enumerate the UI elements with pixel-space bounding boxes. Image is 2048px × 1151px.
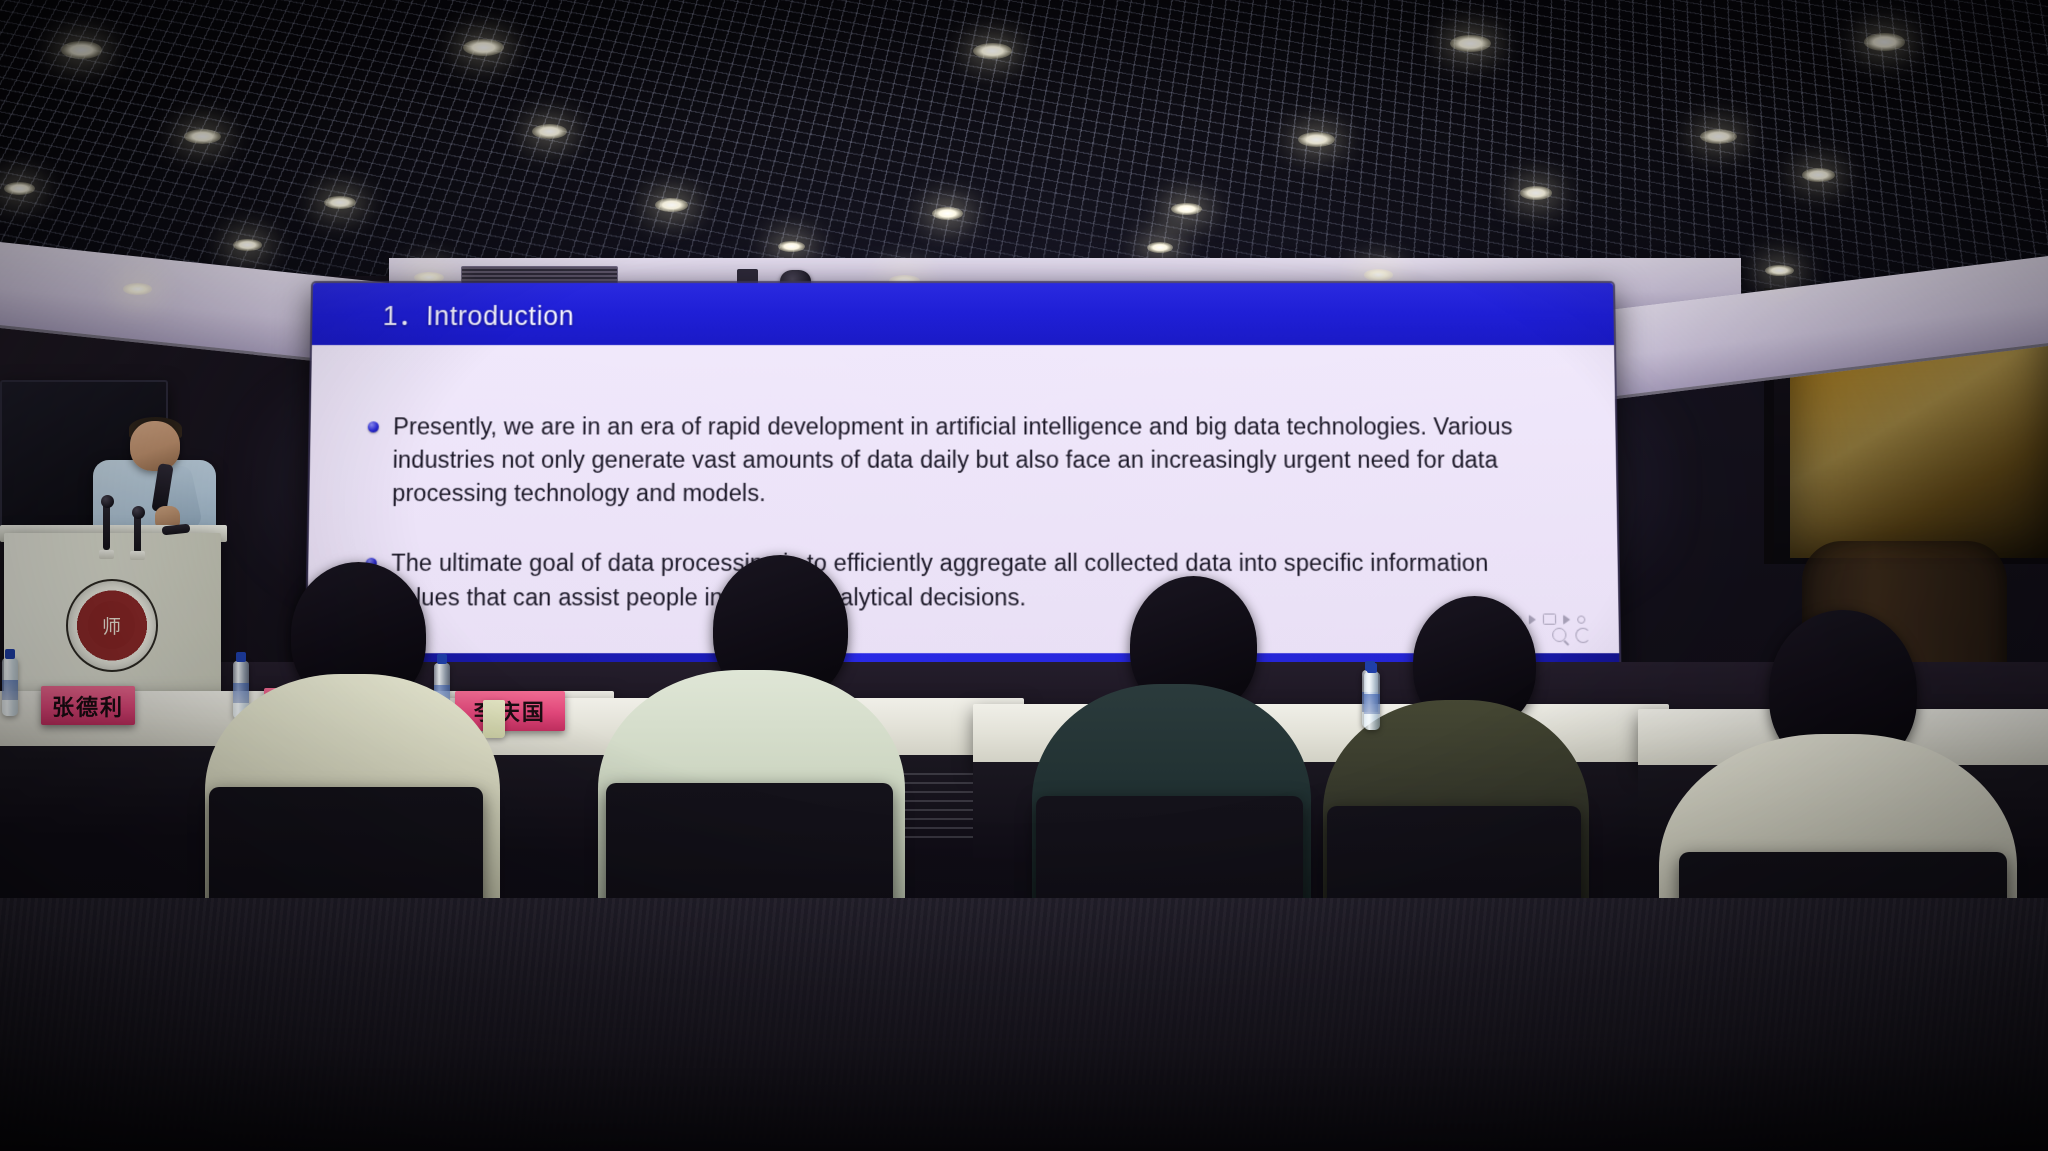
nameplate-text: 张德利 [52, 690, 124, 722]
slide-body: Presently, we are in an era of rapid dev… [307, 345, 1620, 654]
gooseneck-microphone-icon [103, 502, 110, 550]
slide-title-bar: 1．Introduction [312, 283, 1615, 345]
microphone-base [99, 550, 114, 559]
microphone-head-icon [101, 495, 114, 508]
nav-next-icon[interactable] [1529, 615, 1536, 625]
carpet-floor [0, 898, 2048, 1151]
rotate-icon[interactable] [1576, 628, 1591, 643]
nav-dot-icon[interactable] [1577, 616, 1585, 624]
gooseneck-microphone-icon [134, 513, 141, 553]
university-emblem: 师 [66, 579, 158, 672]
water-bottle [1364, 672, 1380, 730]
presenter-head [130, 421, 180, 470]
water-bottle [2, 658, 18, 716]
zoom-in-icon[interactable] [1552, 628, 1566, 642]
nameplate: 张德利 [41, 686, 135, 725]
slide-bullet-text: Presently, we are in an era of rapid dev… [392, 410, 1530, 511]
bullet-dot-icon [368, 421, 379, 432]
lecture-hall-photo: 1．Introduction Presently, we are in an e… [0, 0, 2048, 1151]
slide-zoom-controls[interactable] [1552, 628, 1591, 643]
slide-title: 1．Introduction [383, 294, 575, 333]
emblem-glyph: 师 [88, 601, 136, 649]
nav-last-icon[interactable] [1563, 615, 1570, 625]
paper-cup [483, 700, 505, 738]
slide-bullet-text: The ultimate goal of data processing is … [391, 547, 1532, 615]
slide-bullet: The ultimate goal of data processing is … [366, 547, 1567, 615]
nav-slide-icon[interactable] [1543, 614, 1556, 625]
microphone-base [130, 551, 145, 560]
slide-bullet: Presently, we are in an era of rapid dev… [367, 410, 1565, 511]
